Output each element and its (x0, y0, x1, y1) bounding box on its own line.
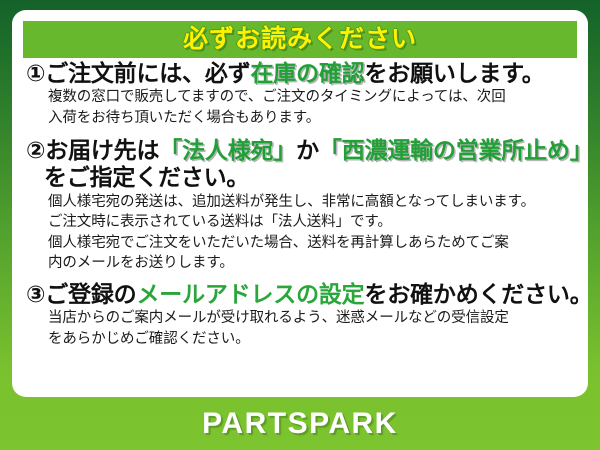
item-2-head-part2: か (296, 137, 319, 163)
item-1-head-part1: ご注文前には、必ず (45, 60, 250, 86)
item-3-head-part2: をお確かめください。 (365, 281, 593, 307)
item-1-subtext-line-2: 入荷をお待ち頂いただく場合もあります。 (48, 108, 578, 129)
item-3-subtext-line-2: をあらかじめご確認ください。 (48, 329, 578, 350)
white-panel: 必ずお読みください ①ご注文前には、必ず在庫の確認をお願いします。 複数の窓口で… (12, 10, 588, 397)
list-item: ①ご注文前には、必ず在庫の確認をお願いします。 複数の窓口で販売してますので、ご… (26, 60, 578, 128)
item-2-subtext-line-4: 内のメールをお送りします。 (48, 253, 578, 274)
item-1-head-part2: をお願いします。 (365, 60, 545, 86)
list-item: ③ご登録のメールアドレスの設定をお確かめください。 当店からのご案内メールが受け… (26, 281, 578, 349)
item-1-highlight: 在庫の確認 (250, 60, 364, 86)
footer-bar: PARTSPARK (0, 397, 600, 450)
item-2-subtext-line-2: ご注文時に表示されている送料は「法人送料」です。 (48, 212, 578, 233)
item-1-heading: ①ご注文前には、必ず在庫の確認をお願いします。 (26, 60, 578, 87)
item-3-number: ③ (26, 281, 45, 307)
item-3-highlight: メールアドレスの設定 (136, 281, 364, 307)
page-title: 必ずお読みください (183, 27, 417, 52)
item-3-heading: ③ご登録のメールアドレスの設定をお確かめください。 (26, 281, 578, 308)
item-1-subtext: 複数の窓口で販売してますので、ご注文のタイミングによっては、次回 入荷をお待ち頂… (26, 87, 578, 128)
item-2-heading-line2: をご指定ください。 (26, 164, 578, 191)
notice-list: ①ご注文前には、必ず在庫の確認をお願いします。 複数の窓口で販売してますので、ご… (12, 60, 588, 349)
item-3-subtext: 当店からのご案内メールが受け取れるよう、迷惑メールなどの受信設定 をあらかじめご… (26, 308, 578, 349)
item-2-number: ② (26, 137, 45, 163)
brand-logo: PARTSPARK (202, 407, 398, 441)
item-2-subtext: 個人様宅宛の発送は、追加送料が発生し、非常に高額となってしまいます。 ご注文時に… (26, 192, 578, 274)
item-2-highlight-corporate: 「法人様宛」 (159, 137, 296, 163)
list-item: ②お届け先は「法人様宛」か「西濃運輸の営業所止め」 をご指定ください。 個人様宅… (26, 137, 578, 274)
item-2-subtext-line-3: 個人様宅宛でご注文をいただいた場合、送料を再計算しあらためてご案 (48, 233, 578, 254)
item-1-number: ① (26, 60, 45, 86)
title-bar: 必ずお読みください (23, 21, 577, 58)
item-3-head-part1: ご登録の (45, 281, 136, 307)
item-2-highlight-seino: 「西濃運輸の営業所止め」 (319, 137, 593, 163)
notice-banner: 必ずお読みください ①ご注文前には、必ず在庫の確認をお願いします。 複数の窓口で… (0, 0, 600, 450)
item-3-subtext-line-1: 当店からのご案内メールが受け取れるよう、迷惑メールなどの受信設定 (48, 308, 578, 329)
item-2-subtext-line-1: 個人様宅宛の発送は、追加送料が発生し、非常に高額となってしまいます。 (48, 192, 578, 213)
item-2-heading: ②お届け先は「法人様宛」か「西濃運輸の営業所止め」 (26, 137, 578, 164)
item-2-head-part1: お届け先は (45, 137, 159, 163)
item-1-subtext-line-1: 複数の窓口で販売してますので、ご注文のタイミングによっては、次回 (48, 87, 578, 108)
